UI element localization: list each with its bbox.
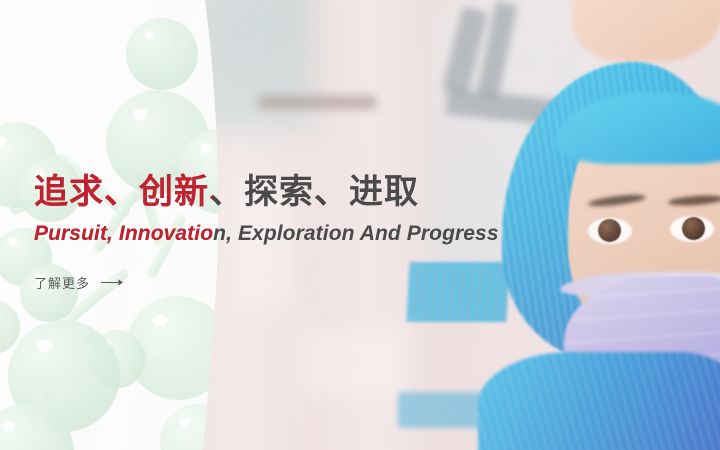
hero-banner: 追求、创新、探索、进取 追求、创新、探索、进取 Pursuit, Innovat… <box>0 0 720 450</box>
banner-content: 追求、创新、探索、进取 追求、创新、探索、进取 Pursuit, Innovat… <box>34 172 674 293</box>
headline: 追求、创新、探索、进取 追求、创新、探索、进取 <box>34 172 674 212</box>
arrow-right-icon <box>101 275 125 290</box>
learn-more-link[interactable]: 了解更多 <box>34 273 125 292</box>
subtitle: Pursuit, Innovation, Exploration And Pro… <box>34 221 674 246</box>
learn-more-label: 了解更多 <box>34 273 90 292</box>
